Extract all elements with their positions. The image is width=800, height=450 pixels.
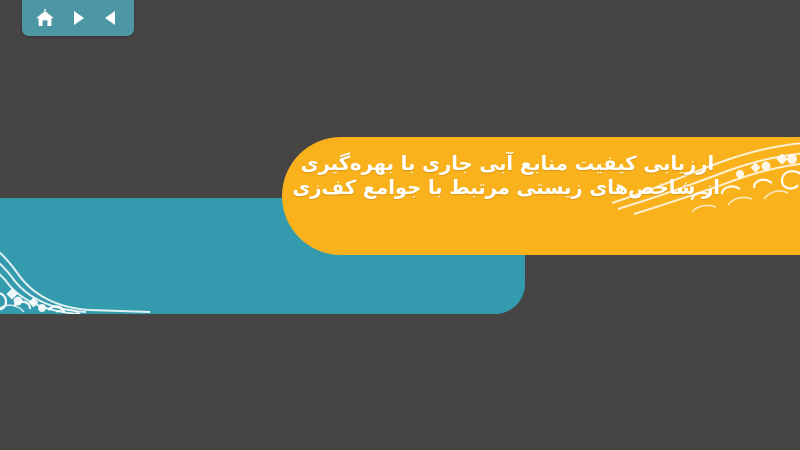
forward-button[interactable] <box>64 4 92 32</box>
slide-canvas: ارزیابی کیفیت منابع آبی جاری با بهره‌گیر… <box>0 0 800 450</box>
back-button[interactable] <box>97 4 125 32</box>
forward-triangle-icon <box>68 8 88 28</box>
navigation-bar <box>22 0 134 36</box>
slide-title-line-1: ارزیابی کیفیت منابع آبی جاری با بهره‌گیر… <box>295 152 720 176</box>
home-icon <box>34 7 56 29</box>
arabesque-ornament-teal <box>0 198 150 314</box>
home-button[interactable] <box>31 4 59 32</box>
slide-title: ارزیابی کیفیت منابع آبی جاری با بهره‌گیر… <box>295 152 720 200</box>
slide-title-line-2: از شاخص‌های زیستی مرتبط با جوامع کف‌زی <box>295 176 720 200</box>
back-triangle-icon <box>101 8 121 28</box>
